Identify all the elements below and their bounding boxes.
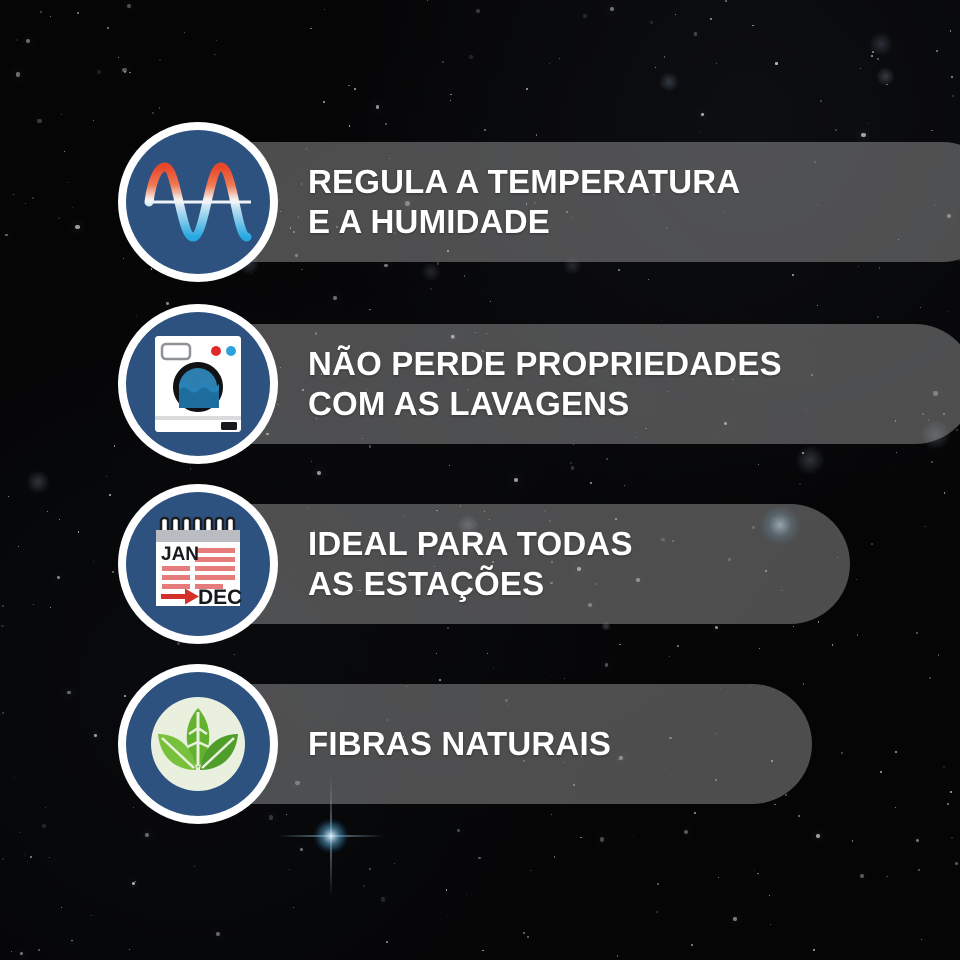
washing-machine-icon-art [151, 334, 245, 434]
feature-icon-badge [118, 304, 278, 464]
feature-icon-badge: JAN DEC [118, 484, 278, 644]
sine-wave-icon-art [143, 159, 253, 245]
feature-row[interactable]: NÃO PERDE PROPRIEDADES COM AS LAVAGENS [118, 312, 782, 456]
feature-icon-badge [118, 664, 278, 824]
leaves-icon-art [126, 672, 270, 816]
infographic-canvas: REGULA A TEMPERATURA E A HUMIDADE [0, 0, 960, 960]
feature-icon-badge [118, 122, 278, 282]
calendar-icon: JAN DEC [126, 492, 270, 636]
calendar-icon-art: JAN DEC [148, 514, 248, 614]
feature-label: IDEAL PARA TODAS AS ESTAÇÕES [308, 524, 633, 605]
feature-label: NÃO PERDE PROPRIEDADES COM AS LAVAGENS [308, 344, 782, 425]
feature-label: REGULA A TEMPERATURA E A HUMIDADE [308, 162, 740, 243]
feature-list: REGULA A TEMPERATURA E A HUMIDADE [0, 0, 960, 960]
calendar-month-start: JAN [161, 544, 199, 565]
washing-machine-icon [126, 312, 270, 456]
leaves-icon [126, 672, 270, 816]
feature-row[interactable]: FIBRAS NATURAIS [118, 672, 611, 816]
feature-label: FIBRAS NATURAIS [308, 724, 611, 764]
sine-wave-icon [126, 130, 270, 274]
feature-row[interactable]: REGULA A TEMPERATURA E A HUMIDADE [118, 130, 740, 274]
calendar-month-end: DEC [198, 586, 242, 609]
feature-row[interactable]: JAN DEC IDEAL PARA TODAS AS ESTAÇÕES [118, 492, 633, 636]
